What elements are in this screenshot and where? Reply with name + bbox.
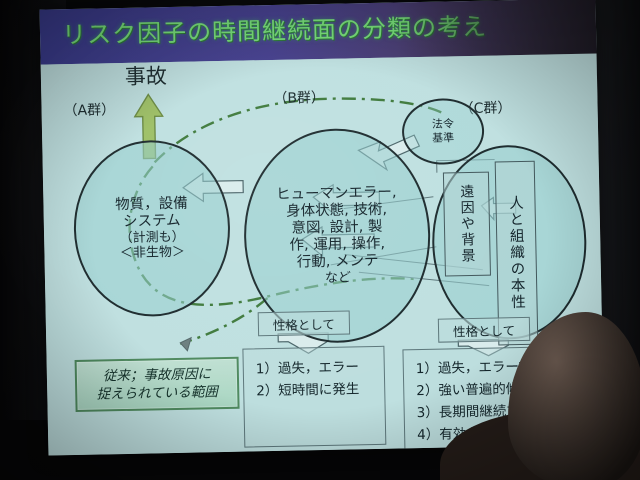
group-a-text: 物質，設備 システム （計測も） ＜非生物＞: [115, 195, 189, 261]
list-item: 1）過失，エラー: [256, 356, 374, 381]
law-line-1: 法令: [432, 118, 454, 132]
group-b-line-2: 身体状態, 技術,: [276, 201, 397, 221]
photograph-of-projection-screen: リスク因子の時間継続面の分類の考え: [0, 0, 640, 480]
legacy-line-2: 捉えられている範囲: [97, 383, 218, 404]
accident-label: 事故: [125, 60, 168, 91]
list-item: 2）短時間に発生: [256, 378, 374, 403]
characteristic-label-b: 性格として: [258, 310, 350, 336]
group-a-line-3: （計測も）: [116, 229, 189, 246]
group-b-text: ヒューマンエラー, 身体状態, 技術, 意図, 設計, 製 作, 運用, 操作,…: [276, 184, 399, 287]
group-b-tag: （B群）: [273, 87, 325, 108]
triangle-pointer-icon: [180, 338, 191, 351]
group-b-characteristics-list: 1）過失，エラー 2）短時間に発生: [242, 346, 386, 448]
law-standard-text: 法令 基準: [432, 118, 455, 146]
group-c-box-enin[interactable]: 遠因や背景: [443, 172, 491, 277]
group-a-line-1: 物質，設備: [115, 195, 188, 214]
group-b-line-6: など: [278, 270, 399, 288]
characteristic-label-c: 性格として: [438, 317, 530, 343]
group-a-tag: （A群）: [63, 99, 115, 120]
group-b-line-4: 作, 運用, 操作,: [277, 235, 398, 255]
legacy-scope-box: 従来；事故原因に 捉えられている範囲: [75, 357, 240, 412]
legacy-line-1: 従来；事故原因に: [103, 365, 211, 385]
law-line-2: 基準: [432, 131, 454, 145]
group-b-line-1: ヒューマンエラー,: [276, 184, 397, 204]
page-title: リスク因子の時間継続面の分類の考え: [62, 7, 488, 51]
group-a-line-2: システム: [115, 212, 188, 231]
group-a-line-4: ＜非生物＞: [116, 245, 189, 262]
